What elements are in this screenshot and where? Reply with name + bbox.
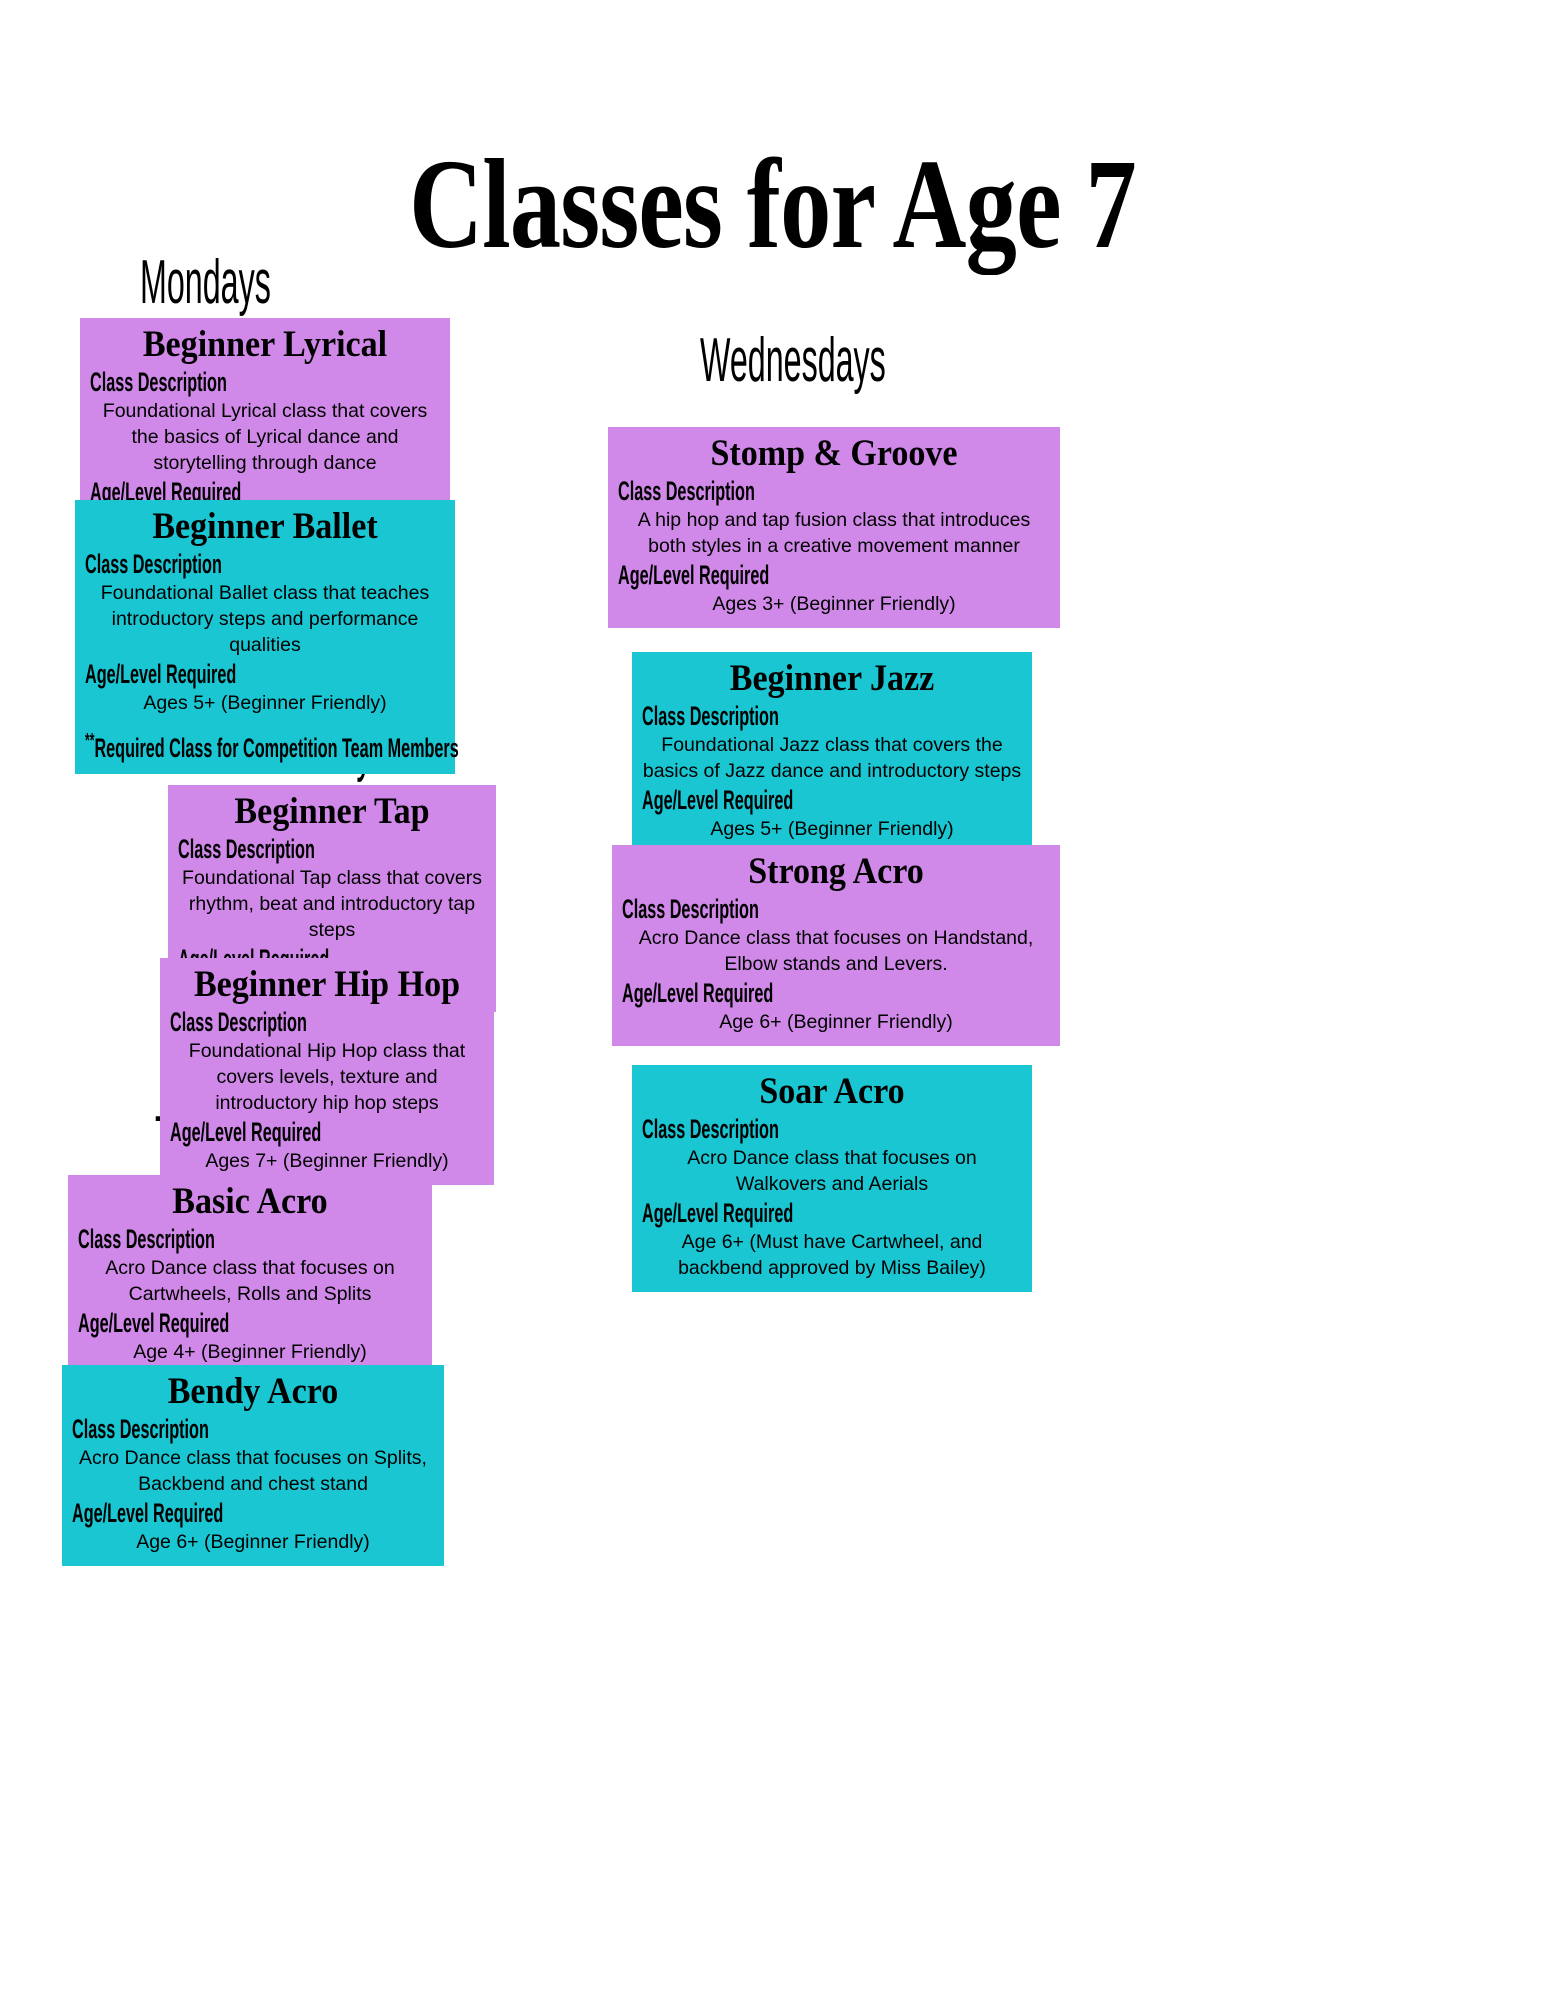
page-title: Classes for Age 7 bbox=[155, 140, 1391, 268]
age-level-value: Ages 7+ (Beginner Friendly) bbox=[170, 1149, 484, 1175]
class-description-value: Acro Dance class that focuses on Cartwhe… bbox=[78, 1256, 422, 1308]
class-card-stomp-and-groove[interactable]: Stomp & Groove Class Description A hip h… bbox=[608, 427, 1060, 628]
class-card-title: Beginner Jazz bbox=[657, 656, 1007, 701]
age-level-label: Age/Level Required bbox=[85, 659, 301, 691]
class-card-beginner-ballet[interactable]: Beginner Ballet Class Description Founda… bbox=[75, 500, 455, 774]
age-level-label: Age/Level Required bbox=[72, 1498, 289, 1530]
class-description-value: Foundational Tap class that covers rhyth… bbox=[178, 866, 486, 944]
class-card-title: Beginner Hip Hop bbox=[183, 962, 472, 1007]
class-description-label: Class Description bbox=[622, 894, 879, 926]
class-card-beginner-hip-hop[interactable]: Beginner Hip Hop Class Description Found… bbox=[160, 958, 494, 1185]
age-level-value: Age 6+ (Beginner Friendly) bbox=[622, 1010, 1050, 1036]
class-card-beginner-jazz[interactable]: Beginner Jazz Class Description Foundati… bbox=[632, 652, 1032, 853]
class-description-value: Foundational Ballet class that teaches i… bbox=[85, 581, 445, 659]
class-description-value: Acro Dance class that focuses on Walkove… bbox=[642, 1146, 1022, 1198]
class-description-label: Class Description bbox=[78, 1224, 284, 1256]
class-card-title: Strong Acro bbox=[639, 849, 1033, 894]
class-description-label: Class Description bbox=[85, 549, 301, 581]
age-level-value: Ages 5+ (Beginner Friendly) bbox=[85, 691, 445, 717]
class-card-strong-acro[interactable]: Strong Acro Class Description Acro Dance… bbox=[612, 845, 1060, 1046]
class-description-label: Class Description bbox=[178, 834, 363, 866]
class-description-label: Class Description bbox=[642, 1114, 870, 1146]
class-description-value: Acro Dance class that focuses on Handsta… bbox=[622, 926, 1050, 978]
class-description-label: Class Description bbox=[618, 476, 877, 508]
class-card-title: Stomp & Groove bbox=[635, 431, 1032, 476]
class-description-value: A hip hop and tap fusion class that intr… bbox=[618, 508, 1050, 560]
class-description-value: Foundational Hip Hop class that covers l… bbox=[170, 1039, 484, 1117]
age-level-value: Ages 3+ (Beginner Friendly) bbox=[618, 592, 1050, 618]
age-level-label: Age/Level Required bbox=[622, 978, 879, 1010]
note-asterisks: ** bbox=[85, 730, 94, 752]
class-description-label: Class Description bbox=[90, 367, 300, 399]
age-level-value: Age 6+ (Beginner Friendly) bbox=[72, 1530, 434, 1556]
age-level-label: Age/Level Required bbox=[618, 560, 877, 592]
class-description-label: Class Description bbox=[72, 1414, 289, 1446]
class-description-value: Foundational Jazz class that covers the … bbox=[642, 733, 1022, 785]
class-description-label: Class Description bbox=[170, 1007, 358, 1039]
class-description-label: Class Description bbox=[642, 701, 870, 733]
age-level-value: Age 4+ (Beginner Friendly) bbox=[78, 1340, 422, 1366]
class-card-soar-acro[interactable]: Soar Acro Class Description Acro Dance c… bbox=[632, 1065, 1032, 1292]
class-card-title: Beginner Lyrical bbox=[104, 322, 426, 367]
age-level-label: Age/Level Required bbox=[170, 1117, 358, 1149]
class-card-basic-acro[interactable]: Basic Acro Class Description Acro Dance … bbox=[68, 1175, 432, 1376]
class-description-value: Foundational Lyrical class that covers t… bbox=[90, 399, 440, 477]
class-card-title: Beginner Ballet bbox=[99, 504, 430, 549]
age-level-value: Age 6+ (Must have Cartwheel, and backben… bbox=[642, 1230, 1022, 1282]
class-card-title: Basic Acro bbox=[92, 1179, 408, 1224]
class-card-title: Soar Acro bbox=[657, 1069, 1007, 1114]
competition-team-note: **Required Class for Competition Team Me… bbox=[85, 729, 301, 764]
class-card-title: Bendy Acro bbox=[86, 1369, 419, 1414]
class-card-bendy-acro[interactable]: Bendy Acro Class Description Acro Dance … bbox=[62, 1365, 444, 1566]
age-level-label: Age/Level Required bbox=[642, 785, 870, 817]
note-text: Required Class for Competition Team Memb… bbox=[94, 733, 458, 763]
class-description-value: Acro Dance class that focuses on Splits,… bbox=[72, 1446, 434, 1498]
age-level-value: Ages 5+ (Beginner Friendly) bbox=[642, 817, 1022, 843]
age-level-label: Age/Level Required bbox=[642, 1198, 870, 1230]
class-card-title: Beginner Tap bbox=[190, 789, 473, 834]
age-level-label: Age/Level Required bbox=[78, 1308, 284, 1340]
day-heading-mondays: Mondays bbox=[140, 252, 271, 314]
day-heading-wednesdays: Wednesdays bbox=[700, 330, 886, 392]
